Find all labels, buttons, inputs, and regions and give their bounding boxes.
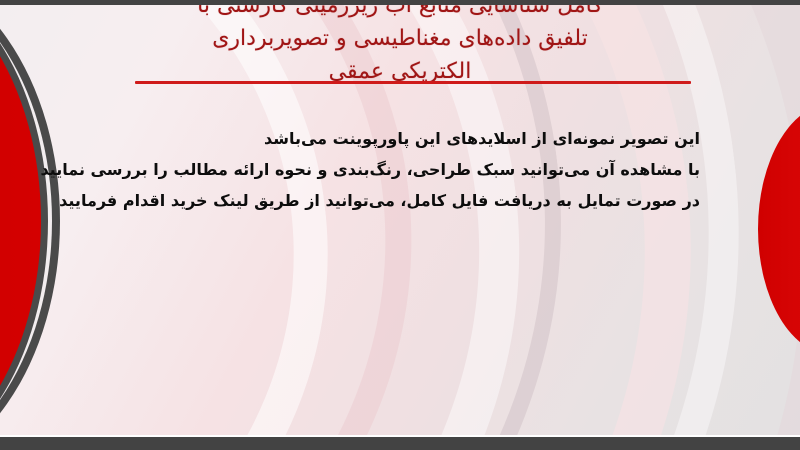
body-line-3: در صورت تمایل به دریافت فایل کامل، می‌تو… bbox=[80, 185, 700, 216]
presentation-slide: کامل شناسایی منابع آب زیرزمینی کارستی با… bbox=[0, 0, 800, 450]
title-line-1: کامل شناسایی منابع آب زیرزمینی کارستی با bbox=[100, 5, 700, 22]
title-divider-rule bbox=[135, 81, 691, 84]
title-line-2: تلفیق داده‌های مغناطیسی و تصویربرداری bbox=[100, 22, 700, 55]
slide-title: کامل شناسایی منابع آب زیرزمینی کارستی با… bbox=[100, 5, 700, 88]
slide-body-text: این تصویر نمونه‌ای از اسلایدهای این پاور… bbox=[80, 123, 700, 216]
body-line-2: با مشاهده آن می‌توانید سبک طراحی، رنگ‌بن… bbox=[80, 154, 700, 185]
frame-bar-top bbox=[0, 0, 800, 5]
slide-canvas: کامل شناسایی منابع آب زیرزمینی کارستی با… bbox=[0, 5, 800, 437]
body-line-1: این تصویر نمونه‌ای از اسلایدهای این پاور… bbox=[80, 123, 700, 154]
frame-bar-bottom bbox=[0, 437, 800, 450]
